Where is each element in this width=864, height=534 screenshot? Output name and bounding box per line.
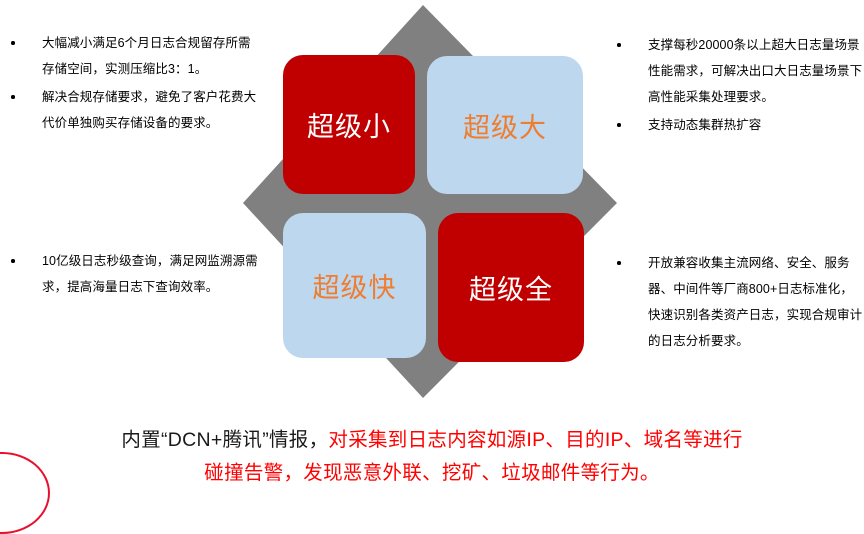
list-item: 开放兼容收集主流网络、安全、服务器、中间件等厂商800+日志标准化，快速识别各类… (606, 250, 864, 354)
bullet-list: 10亿级日志秒级查询，满足网监溯源需求，提高海量日志下查询效率。 (0, 248, 258, 300)
tile-super-large[interactable]: 超级大 (427, 56, 583, 194)
bullet-list: 大幅减小满足6个月日志合规留存所需存储空间，实测压缩比3：1。 解决合规存储要求… (0, 30, 258, 136)
four-quadrant-diagram: 超级小 超级大 超级快 超级全 (240, 0, 624, 404)
tile-super-fast[interactable]: 超级快 (283, 213, 426, 358)
text-block-top-left: 大幅减小满足6个月日志合规留存所需存储空间，实测压缩比3：1。 解决合规存储要求… (0, 30, 258, 138)
caption-line-2: 碰撞告警，发现恶意外联、挖矿、垃圾邮件等行为。 (0, 457, 864, 490)
tile-label: 超级全 (469, 268, 553, 307)
list-item: 大幅减小满足6个月日志合规留存所需存储空间，实测压缩比3：1。 (0, 30, 258, 82)
list-item: 支撑每秒20000条以上超大日志量场景性能需求，可解决出口大日志量场景下高性能采… (606, 32, 864, 110)
caption-line1-black: 内置“DCN+腾讯”情报， (121, 429, 328, 451)
footer-caption: 内置“DCN+腾讯”情报，对采集到日志内容如源IP、目的IP、域名等进行 碰撞告… (0, 424, 864, 490)
caption-line-1: 内置“DCN+腾讯”情报，对采集到日志内容如源IP、目的IP、域名等进行 (0, 424, 864, 457)
bullet-list: 支撑每秒20000条以上超大日志量场景性能需求，可解决出口大日志量场景下高性能采… (606, 32, 864, 138)
tile-super-complete[interactable]: 超级全 (438, 213, 584, 362)
list-item: 解决合规存储要求，避免了客户花费大代价单独购买存储设备的要求。 (0, 84, 258, 136)
caption-line2-red: 碰撞告警，发现恶意外联、挖矿、垃圾邮件等行为。 (204, 462, 659, 484)
tile-label: 超级快 (313, 266, 397, 305)
list-item: 10亿级日志秒级查询，满足网监溯源需求，提高海量日志下查询效率。 (0, 248, 258, 300)
list-item: 支持动态集群热扩容 (606, 112, 864, 138)
text-block-top-right: 支撑每秒20000条以上超大日志量场景性能需求，可解决出口大日志量场景下高性能采… (606, 32, 864, 140)
tile-label: 超级小 (307, 105, 391, 144)
bullet-list: 开放兼容收集主流网络、安全、服务器、中间件等厂商800+日志标准化，快速识别各类… (606, 250, 864, 354)
text-block-bottom-right: 开放兼容收集主流网络、安全、服务器、中间件等厂商800+日志标准化，快速识别各类… (606, 250, 864, 356)
caption-line1-red: 对采集到日志内容如源IP、目的IP、域名等进行 (328, 429, 742, 451)
tile-label: 超级大 (463, 106, 547, 145)
text-block-bottom-left: 10亿级日志秒级查询，满足网监溯源需求，提高海量日志下查询效率。 (0, 248, 258, 302)
tile-super-small[interactable]: 超级小 (283, 55, 415, 194)
